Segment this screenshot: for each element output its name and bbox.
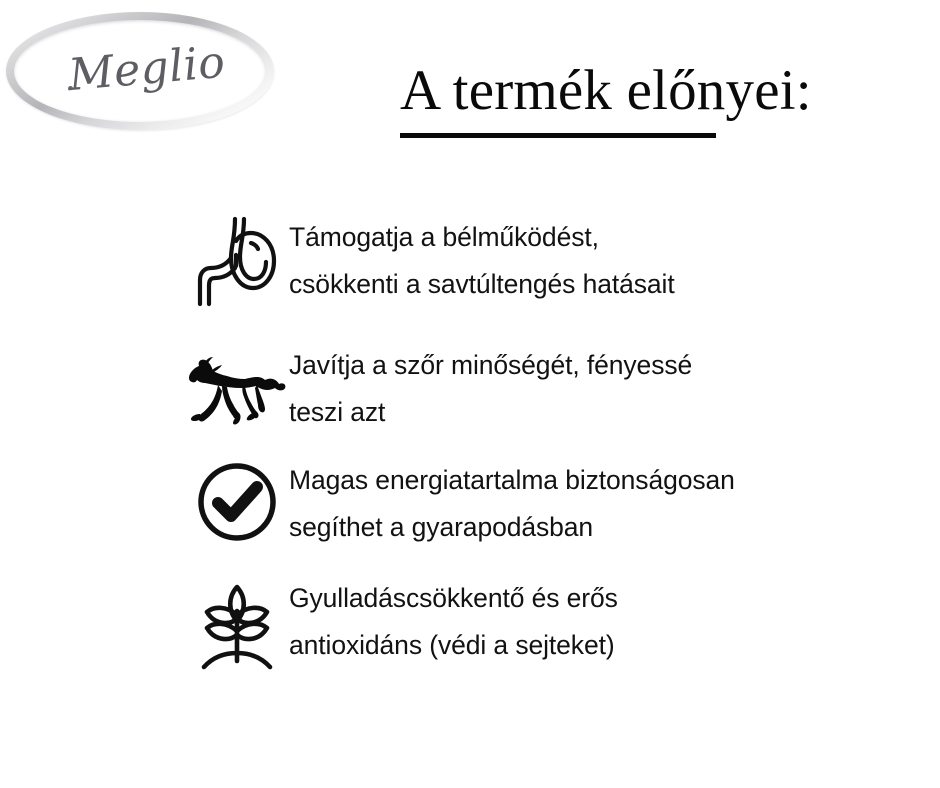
benefit-text-digestion: Támogatja a bélműködést, csökkenti a sav…	[289, 212, 905, 308]
title-underline-rule	[400, 133, 716, 138]
benefit-text-antioxidant: Gyulladáscsökkentő és erős antioxidáns (…	[289, 573, 905, 669]
brand-logo: Meglio	[6, 12, 274, 130]
benefit-text-energy: Magas energiatartalma biztonságosan segí…	[289, 455, 905, 551]
galloping-horse-icon	[185, 340, 289, 426]
benefit-line-2: segíthet a gyarapodásban	[289, 504, 905, 551]
benefit-line-2: csökkenti a savtúltengés hatásait	[289, 261, 905, 308]
benefit-item-antioxidant: Gyulladáscsökkentő és erős antioxidáns (…	[185, 573, 905, 673]
sprout-plant-icon	[185, 573, 289, 673]
benefit-text-coat-quality: Javítja a szőr minőségét, fényessé teszi…	[289, 340, 905, 436]
logo-wordmark: Meglio	[1, 1, 278, 142]
benefit-line-1: Gyulladáscsökkentő és erős	[289, 575, 905, 622]
benefit-line-2: antioxidáns (védi a sejteket)	[289, 622, 905, 669]
stomach-icon	[185, 212, 289, 308]
benefit-line-1: Javítja a szőr minőségét, fényessé	[289, 342, 905, 389]
page-title-block: A termék előnyei:	[400, 62, 900, 138]
benefit-line-1: Támogatja a bélműködést,	[289, 214, 905, 261]
benefit-line-2: teszi azt	[289, 389, 905, 436]
benefit-item-coat-quality: Javítja a szőr minőségét, fényessé teszi…	[185, 340, 905, 436]
check-circle-icon	[185, 455, 289, 543]
benefits-list: Támogatja a bélműködést, csökkenti a sav…	[185, 212, 905, 673]
benefit-item-digestion: Támogatja a bélműködést, csökkenti a sav…	[185, 212, 905, 308]
page-title: A termék előnyei:	[400, 62, 900, 119]
benefit-line-1: Magas energiatartalma biztonságosan	[289, 457, 905, 504]
benefit-item-energy: Magas energiatartalma biztonságosan segí…	[185, 455, 905, 551]
